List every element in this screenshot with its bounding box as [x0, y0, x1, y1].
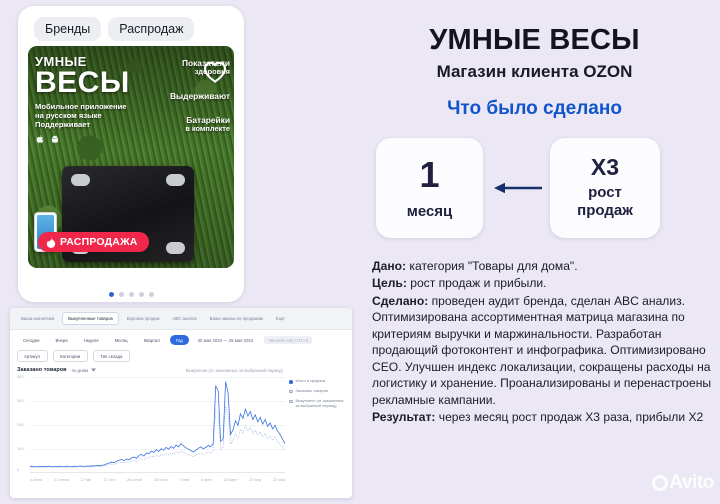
case-done-label: Сделано:: [372, 294, 428, 308]
chart-granularity-label: по дням: [72, 368, 88, 373]
case-result: Результат: через месяц рост продаж X3 ра…: [372, 409, 714, 425]
page-title: УМНЫЕ ВЕСЫ: [362, 24, 707, 57]
avito-watermark-label: Avito: [669, 472, 714, 494]
left-column: Бренды Распродаж УМНЫЕ ВЕСЫ Мобильное пр…: [0, 0, 358, 504]
period-quarter[interactable]: Квартал: [138, 335, 166, 345]
period-month[interactable]: Месяц: [109, 335, 134, 345]
chip-brands[interactable]: Бренды: [34, 17, 101, 41]
carousel-dot-5[interactable]: [149, 292, 154, 297]
legend-marker-icon: [289, 390, 293, 394]
ytick-300: 300: [17, 398, 24, 403]
carousel-dot-1[interactable]: [109, 292, 114, 297]
legend-item-ordered[interactable]: Заказано товаров: [289, 389, 347, 394]
tab-analytics[interactable]: Ваша аналитика: [16, 313, 59, 324]
chart-line-series: [30, 375, 285, 473]
ytick-100: 100: [17, 446, 24, 451]
xtick-3: 21 сен: [104, 478, 115, 482]
case-goal-label: Цель:: [372, 276, 407, 290]
chart-plot-wrapper: 400 300 200 100 0 4 июня 12 июля 17 авг …: [10, 375, 352, 491]
xtick-10: 22 мая: [273, 478, 285, 482]
xtick-2: 17 авг: [81, 478, 92, 482]
carousel-dot-3[interactable]: [129, 292, 134, 297]
case-result-label: Результат:: [372, 410, 435, 424]
chart-legend: Итого в среднем Заказано товаров Выкупле…: [289, 379, 347, 414]
case-given-text: категория "Товары для дома".: [406, 259, 578, 273]
case-goal: Цель: рост продаж и прибыли.: [372, 275, 714, 291]
select-warehouse-type[interactable]: Тип склада: [93, 350, 130, 362]
chart-note: Выкуплено (от заказанных за выбранный пе…: [186, 368, 283, 373]
feature-batteries-l2: в комплекте: [185, 124, 230, 133]
flame-icon: [46, 236, 56, 248]
xtick-7: 8 фев: [201, 478, 211, 482]
xtick-0: 4 июня: [30, 478, 42, 482]
kpi-duration-value: 1: [419, 157, 439, 193]
tab-abc-analysis[interactable]: ABC анализ: [168, 313, 202, 324]
avito-logo-icon: [652, 475, 668, 491]
electrode-pad: [71, 174, 90, 186]
legend-marker-icon: [289, 400, 293, 404]
legend-label-ordered: Заказано товаров: [296, 389, 328, 394]
sale-badge: РАСПРОДАЖА: [38, 232, 149, 252]
section-heading: Что было сделано: [362, 98, 707, 120]
legend-label-total: Итого в среднем: [296, 379, 326, 384]
legend-marker-icon: [289, 380, 293, 384]
tab-sales-funnel[interactable]: Воронка продаж: [122, 313, 165, 324]
product-photo[interactable]: УМНЫЕ ВЕСЫ Мобильное приложение на русск…: [28, 46, 234, 268]
legend-label-redeemed: Выкуплено (от заказанных за выбранный пе…: [296, 399, 348, 409]
carousel-dot-2[interactable]: [119, 292, 124, 297]
product-listing-card: Бренды Распродаж УМНЫЕ ВЕСЫ Мобильное пр…: [18, 6, 244, 302]
chart-x-labels: 4 июня 12 июля 17 авг 21 сен 26 октяб 30…: [30, 478, 285, 482]
heart-icon: [202, 60, 228, 84]
tab-orders-by-sales[interactable]: Ваши заказы по продажам: [205, 313, 268, 324]
legend-item-total[interactable]: Итого в среднем: [289, 379, 347, 384]
ytick-0: 0: [17, 467, 19, 472]
legend-item-redeemed[interactable]: Выкуплено (от заказанных за выбранный пе…: [289, 399, 347, 409]
kpi-card-duration: 1 месяц: [376, 138, 483, 238]
case-done: Сделано: проведен аудит бренда, сделан A…: [372, 293, 714, 408]
select-article[interactable]: Артикул: [17, 350, 48, 362]
photo-left-text: УМНЫЕ ВЕСЫ Мобильное приложение на русск…: [35, 54, 155, 145]
left-arrow-icon: [492, 180, 544, 196]
feature-capacity-l1: Выдерживают: [144, 91, 230, 101]
period-yesterday[interactable]: Вчера: [49, 335, 73, 345]
xtick-5: 30 нояб: [154, 478, 168, 482]
filter-select-row: Артикул Категории Тип склада: [10, 350, 352, 367]
photo-title-big: ВЕСЫ: [35, 69, 155, 98]
xtick-8: 15 март: [223, 478, 237, 482]
xtick-1: 12 июля: [54, 478, 68, 482]
category-chip-row: Бренды Распродаж: [18, 14, 244, 44]
case-result-text: через месяц рост продаж X3 раза, прибыли…: [435, 410, 703, 424]
tab-purchased-goods[interactable]: Выкупленные товаров: [62, 312, 119, 325]
right-column: УМНЫЕ ВЕСЫ Магазин клиента OZON Что было…: [362, 0, 720, 504]
xtick-4: 26 октяб: [127, 478, 142, 482]
avito-watermark: Avito: [652, 472, 714, 494]
dashboard-tab-bar: Ваша аналитика Выкупленные товаров Ворон…: [10, 308, 352, 330]
analytics-dashboard-screenshot: Ваша аналитика Выкупленные товаров Ворон…: [10, 308, 352, 498]
kpi-growth-label: рост продаж: [577, 184, 633, 219]
date-range-note: Часовой пояс UTC+3: [264, 336, 312, 344]
photo-subtitle: Мобильное приложение на русском языке По…: [35, 102, 155, 130]
chart-header: Заказано товаров по дням Выкуплено (от з…: [10, 367, 352, 373]
os-icon-row: [35, 134, 155, 145]
feature-capacity: Выдерживают: [144, 91, 230, 101]
case-description: Дано: категория "Товары для дома". Цель:…: [372, 258, 714, 426]
electrode-pad: [166, 242, 185, 254]
tab-more[interactable]: Ещё: [271, 313, 290, 324]
carousel-dot-4[interactable]: [139, 292, 144, 297]
feature-batteries: Батарейки в комплекте: [144, 115, 230, 134]
chart-x-axis: [30, 472, 285, 473]
select-category[interactable]: Категории: [53, 350, 88, 362]
chart-plot: 400 300 200 100 0 4 июня 12 июля 17 авг …: [17, 375, 285, 483]
chevron-down-icon: [91, 368, 96, 372]
kpi-growth-value: X3: [591, 156, 619, 179]
date-range-label[interactable]: 30 мая 2023 — 29 мая 2024: [198, 338, 253, 343]
page-subtitle: Магазин клиента OZON: [362, 62, 707, 82]
chart-title: Заказано товаров: [17, 367, 67, 373]
period-week[interactable]: Неделя: [78, 335, 105, 345]
kpi-card-growth: X3 рост продаж: [550, 138, 660, 238]
period-filter-row: Сегодня Вчера Неделя Месяц Квартал Год 3…: [10, 330, 352, 350]
carousel-dots[interactable]: [18, 292, 244, 297]
chart-granularity-select[interactable]: по дням: [72, 368, 96, 373]
ytick-200: 200: [17, 422, 24, 427]
sale-badge-label: РАСПРОДАЖА: [60, 236, 138, 248]
kpi-duration-label: месяц: [407, 203, 453, 220]
case-done-text: проведен аудит бренда, сделан ABC анализ…: [372, 294, 711, 407]
xtick-6: 4 янв: [180, 478, 189, 482]
apple-icon: [35, 134, 45, 145]
case-given-label: Дано:: [372, 259, 406, 273]
xtick-9: 19 апр: [249, 478, 261, 482]
ytick-400: 400: [17, 374, 24, 379]
case-goal-text: рост продаж и прибыли.: [407, 276, 547, 290]
electrode-pad: [166, 174, 185, 186]
chip-sale[interactable]: Распродаж: [108, 17, 194, 41]
android-icon: [50, 134, 60, 145]
period-today[interactable]: Сегодня: [17, 335, 45, 345]
photo-feature-list: Показатели здоровья Выдерживают Батарейк…: [144, 58, 230, 148]
period-year[interactable]: Год: [170, 335, 189, 345]
case-given: Дано: категория "Товары для дома".: [372, 258, 714, 274]
